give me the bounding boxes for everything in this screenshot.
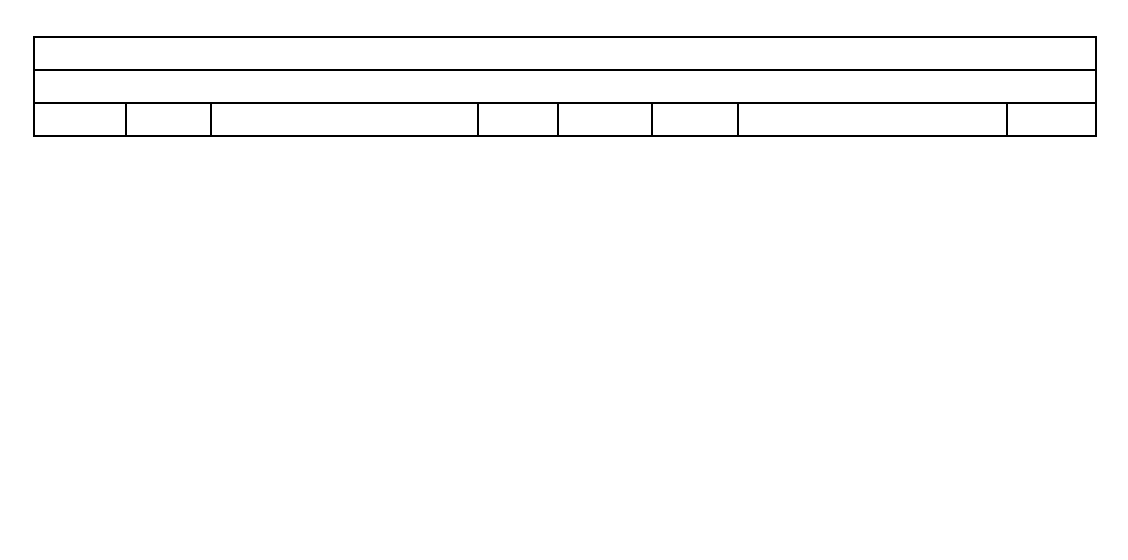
subtitle-row	[34, 70, 1096, 103]
header-row	[34, 103, 1096, 136]
character-card-table	[33, 36, 1097, 137]
document-title	[34, 37, 1096, 70]
header-card-name-right	[738, 103, 1007, 136]
spreadsheet-canvas	[0, 0, 1128, 560]
header-card-type-right	[652, 103, 738, 136]
header-chara-right	[558, 103, 652, 136]
header-card-type-left	[126, 103, 211, 136]
document-subtitle	[34, 70, 1096, 103]
title-row	[34, 37, 1096, 70]
header-count-right	[1007, 103, 1096, 136]
header-chara-left	[34, 103, 126, 136]
header-count-left	[478, 103, 558, 136]
header-card-name-left	[211, 103, 478, 136]
